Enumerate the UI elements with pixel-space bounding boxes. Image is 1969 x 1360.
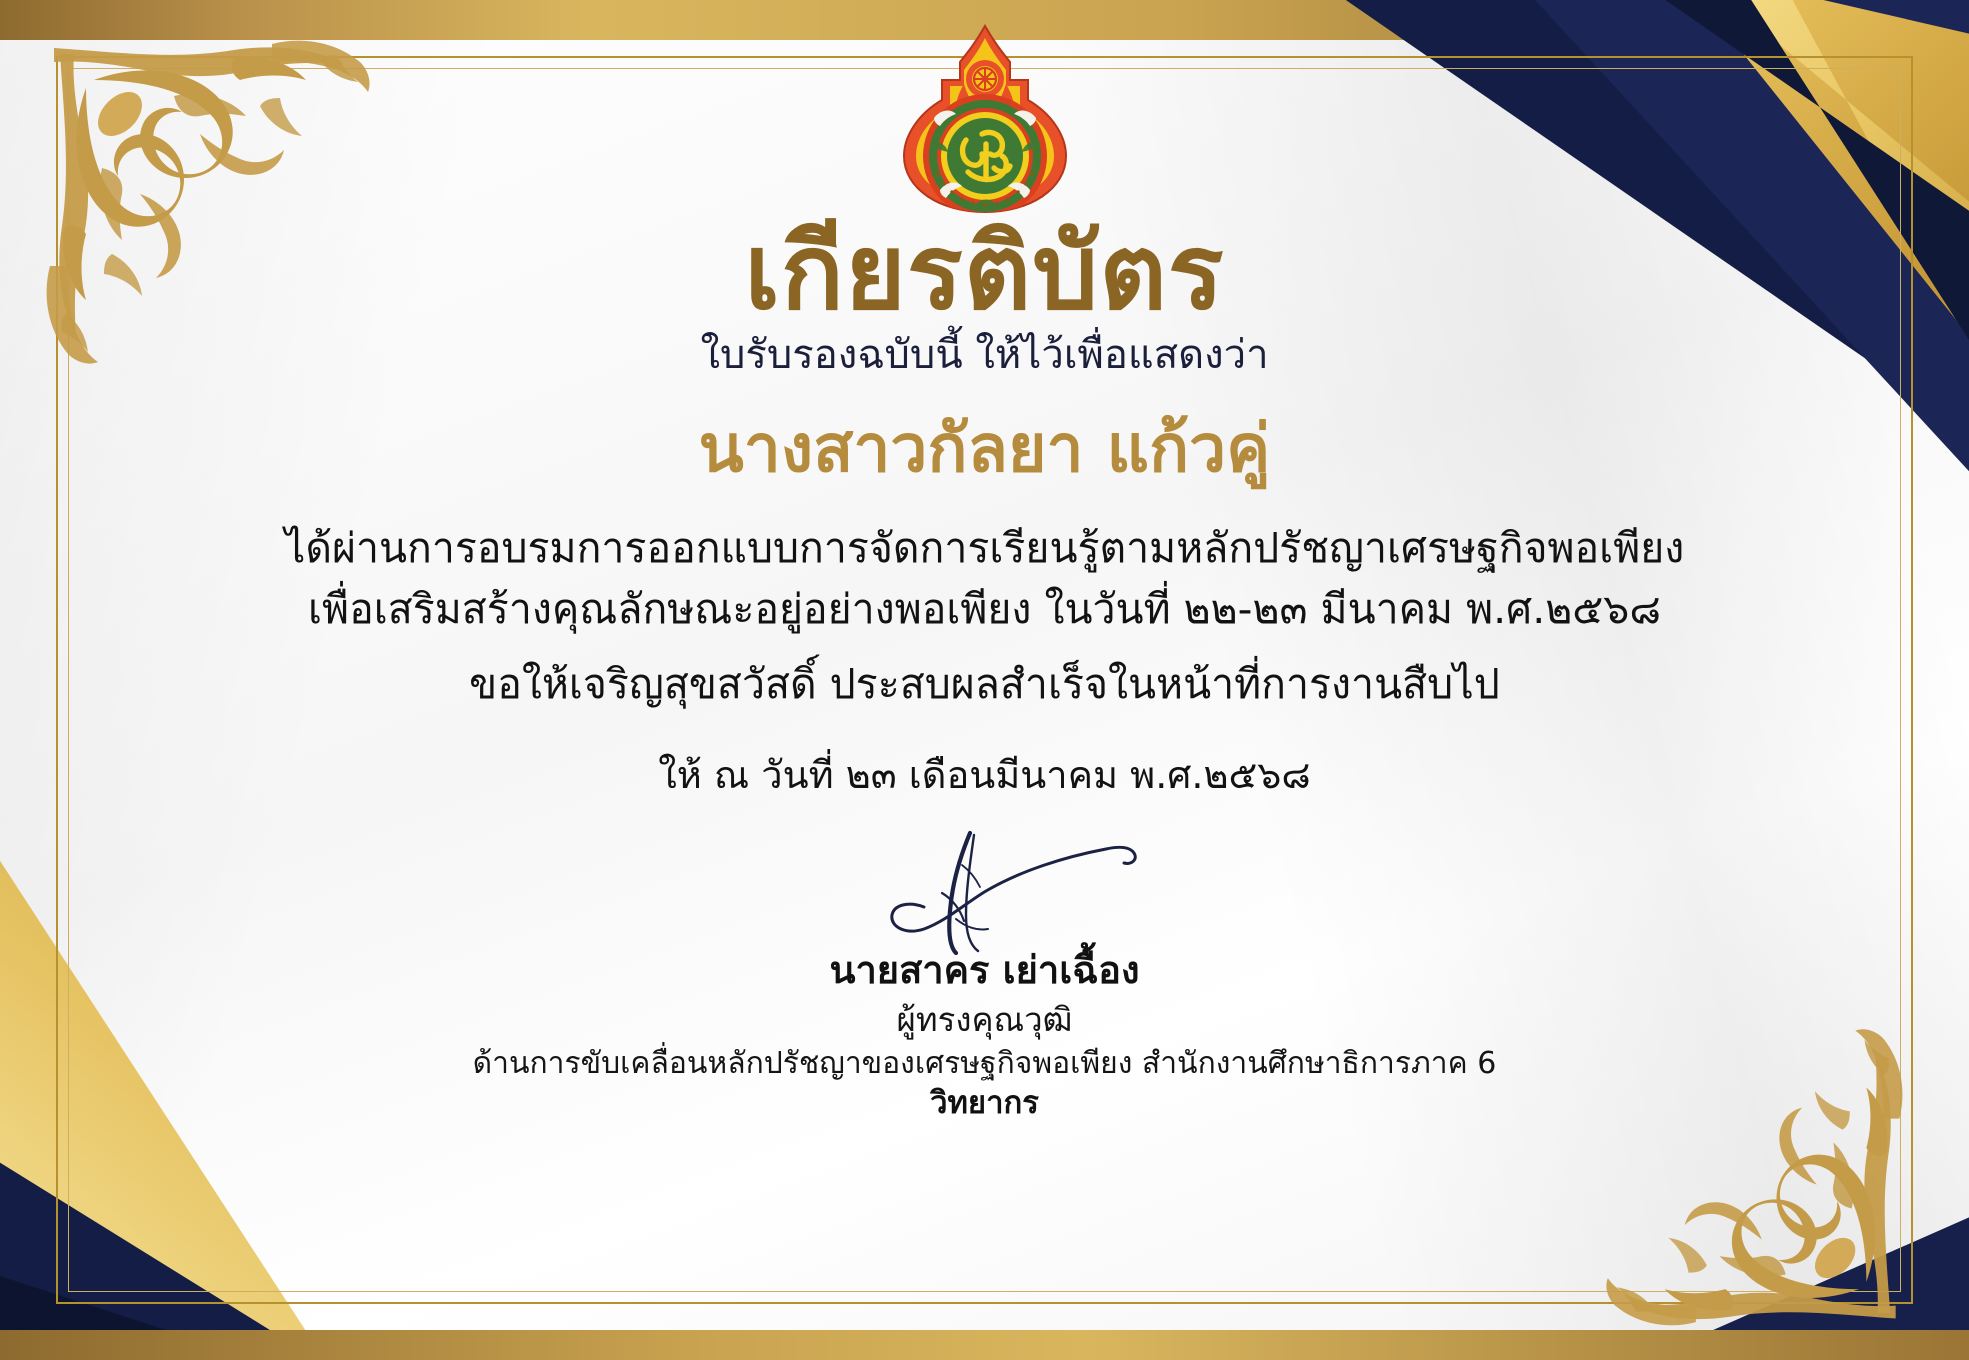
certificate-subtitle: ใบรับรองฉบับนี้ ให้ไว้เพื่อแสดงว่า <box>0 331 1969 379</box>
signer-role: ผู้ทรงคุณวุฒิ <box>0 999 1969 1042</box>
body-line-3: ขอให้เจริญสุขสวัสดิ์ ประสบผลสำเร็จในหน้า… <box>135 654 1835 715</box>
signer-organization: ด้านการขับเคลื่อนหลักปรัชญาของเศรษฐกิจพอ… <box>0 1044 1969 1083</box>
recipient-name: นางสาวกัลยา แก้วคู่ <box>0 409 1969 488</box>
certificate-content: เกียรติบัตร ใบรับรองฉบับนี้ ให้ไว้เพื่อแ… <box>0 0 1969 1123</box>
certificate-body: ได้ผ่านการอบรมการออกแบบการจัดการเรียนรู้… <box>0 518 1969 714</box>
body-line-1: ได้ผ่านการอบรมการออกแบบการจัดการเรียนรู้… <box>135 518 1835 579</box>
certificate-title: เกียรติบัตร <box>0 218 1969 327</box>
bottom-right-navy-wedge <box>1609 1130 1969 1360</box>
bottom-gold-border <box>0 1330 1969 1360</box>
signer-tag: วิทยากร <box>0 1083 1969 1123</box>
body-line-2: เพื่อเสริมสร้างคุณลักษณะอยู่อย่างพอเพียง… <box>135 579 1835 640</box>
issued-date-line: ให้ ณ วันที่ ๒๓ เดือนมีนาคม พ.ศ.๒๕๖๘ <box>0 744 1969 805</box>
signature-area <box>0 815 1969 955</box>
certificate-page: เกียรติบัตร ใบรับรองฉบับนี้ ให้ไว้เพื่อแ… <box>0 0 1969 1360</box>
handwritten-signature-icon <box>820 815 1150 955</box>
